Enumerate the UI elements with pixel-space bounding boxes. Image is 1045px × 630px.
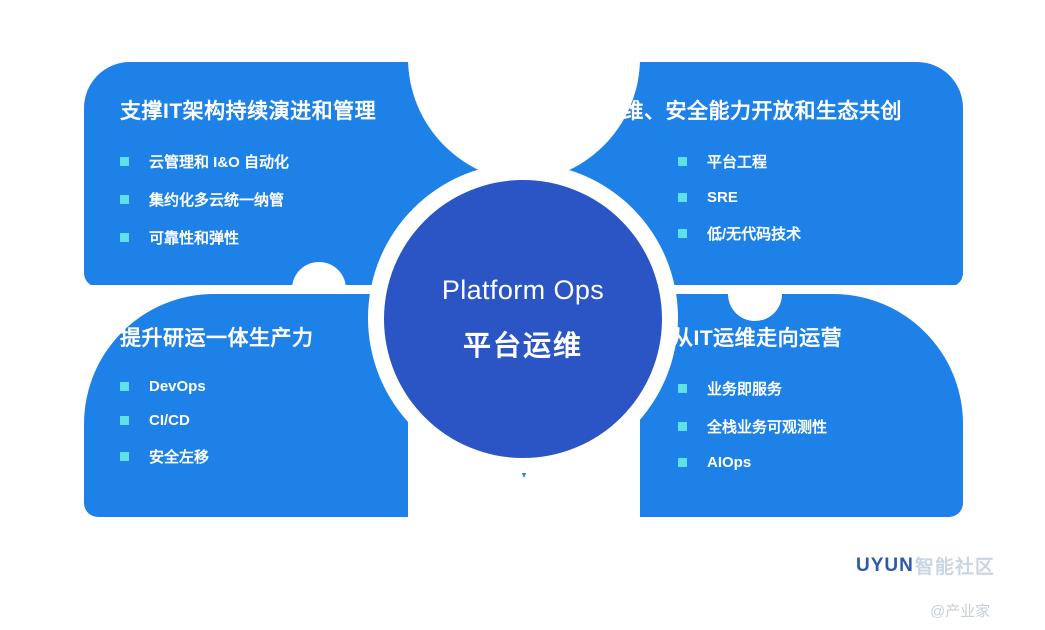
bullet-list-top-right: 平台工程 SRE 低/无代码技术 [558,151,958,244]
bullet-label: 云管理和 I&O 自动化 [149,151,289,172]
bullet-label: 安全左移 [149,446,209,467]
bullet-square-icon [678,458,687,467]
list-item: 集约化多云统一纳管 [120,189,450,210]
bullet-square-icon [120,382,129,391]
bullet-square-icon [678,193,687,202]
list-item: AIOps [678,454,962,471]
quadrant-top-right: 促进运维、安全能力开放和生态共创 平台工程 SRE 低/无代码技术 [558,95,958,244]
list-item: 安全左移 [120,446,450,467]
bullet-list-bottom-right: 业务即服务 全栈业务可观测性 AIOps [672,378,962,471]
quadrant-bottom-left: 提升研运一体生产力 DevOps CI/CD 安全左移 [120,322,450,467]
bullet-square-icon [678,229,687,238]
list-item: 业务即服务 [678,378,962,399]
bullet-square-icon [678,157,687,166]
bullet-label: CI/CD [149,412,190,429]
list-item: 可靠性和弹性 [120,227,450,248]
bullet-label: SRE [707,189,738,206]
brand-name: UYUN [856,555,914,577]
bullet-label: 业务即服务 [707,378,782,399]
brand-watermark: UYUN 智能社区 [856,552,995,579]
list-item: 平台工程 [678,151,958,172]
list-item: SRE [678,189,958,206]
bullet-label: 可靠性和弹性 [149,227,239,248]
bullet-label: DevOps [149,378,206,395]
list-item: DevOps [120,378,450,395]
bullet-label: 低/无代码技术 [707,223,801,244]
bullet-list-top-left: 云管理和 I&O 自动化 集约化多云统一纳管 可靠性和弹性 [120,151,450,248]
list-item: 云管理和 I&O 自动化 [120,151,450,172]
bullet-label: 平台工程 [707,151,767,172]
diagram-canvas: Platform Ops 平台运维 支撑IT架构持续演进和管理 云管理和 I&O… [0,0,1045,630]
center-title-zh: 平台运维 [463,324,583,364]
bullet-label: AIOps [707,454,751,471]
bullet-square-icon [120,195,129,204]
bullet-square-icon [678,422,687,431]
bullet-label: 集约化多云统一纳管 [149,189,284,210]
bullet-square-icon [678,384,687,393]
quadrant-top-left: 支撑IT架构持续演进和管理 云管理和 I&O 自动化 集约化多云统一纳管 可靠性… [120,95,450,248]
quadrant-title-bottom-left: 提升研运一体生产力 [120,322,450,352]
brand-name-cn: 智能社区 [915,552,995,579]
quadrant-title-top-right: 促进运维、安全能力开放和生态共创 [558,95,958,125]
list-item: 低/无代码技术 [678,223,958,244]
bullet-square-icon [120,452,129,461]
quadrant-title-top-left: 支撑IT架构持续演进和管理 [120,95,450,125]
quadrant-bottom-right: 从IT运维走向运营 业务即服务 全栈业务可观测性 AIOps [672,322,962,471]
center-title-en: Platform Ops [442,275,604,306]
list-item: CI/CD [120,412,450,429]
bullet-square-icon [120,416,129,425]
list-item: 全栈业务可观测性 [678,416,962,437]
bullet-square-icon [120,233,129,242]
bullet-square-icon [120,157,129,166]
handle-watermark: @产业家 [930,600,990,621]
bullet-list-bottom-left: DevOps CI/CD 安全左移 [120,378,450,467]
bullet-label: 全栈业务可观测性 [707,416,827,437]
quadrant-title-bottom-right: 从IT运维走向运营 [672,322,962,352]
